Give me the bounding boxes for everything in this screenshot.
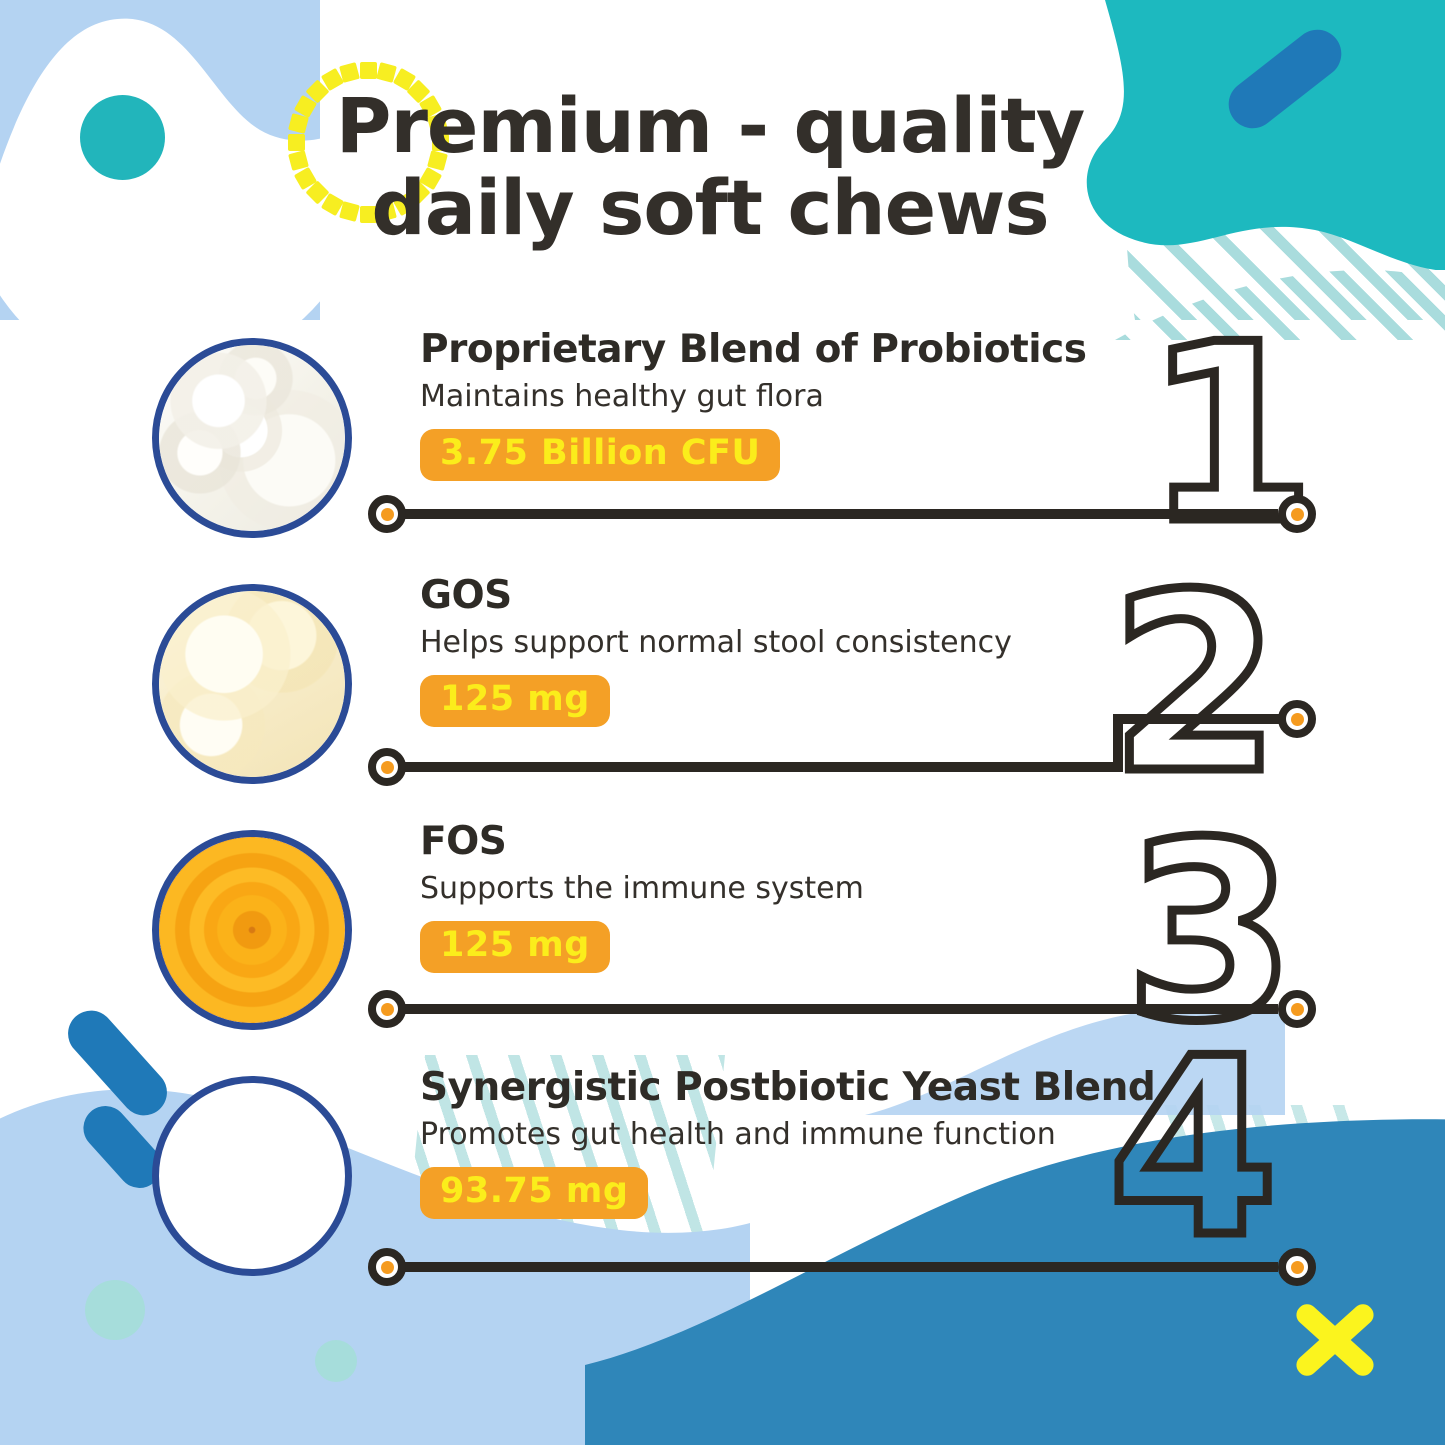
connector-marker-right-4	[1278, 1248, 1316, 1286]
gos-cream-thumbnail	[152, 584, 352, 784]
product-infographic-poster: Premium - quality daily soft chews Propr…	[0, 0, 1445, 1445]
connector-marker-right-1	[1278, 495, 1316, 533]
yeast-granules-thumbnail	[152, 1076, 352, 1276]
ingredient-text-1: Proprietary Blend of Probiotics Maintain…	[420, 330, 1120, 481]
top-right-diagonal-stripes	[1125, 20, 1445, 320]
blue-capsule-decor	[1219, 20, 1351, 138]
connector-marker-left-3	[368, 990, 406, 1028]
connector-line-1	[373, 509, 1278, 519]
connector-marker-right-2	[1278, 700, 1316, 738]
ingredient-amount-badge: 3.75 Billion CFU	[420, 429, 780, 481]
ingredient-amount-badge: 93.75 mg	[420, 1167, 648, 1219]
connector-line-2	[373, 762, 1123, 772]
step-number-2: 2	[1110, 562, 1274, 807]
ingredient-name: Synergistic Postbiotic Yeast Blend	[420, 1068, 1120, 1109]
connector-marker-right-3	[1278, 990, 1316, 1028]
ingredient-benefit: Helps support normal stool consistency	[420, 626, 1120, 659]
page-title: Premium - quality daily soft chews	[300, 85, 1120, 249]
ingredient-name: Proprietary Blend of Probiotics	[420, 330, 1120, 371]
ingredient-benefit: Promotes gut health and immune function	[420, 1118, 1120, 1151]
ingredient-amount-badge: 125 mg	[420, 675, 610, 727]
probiotic-yogurt-thumbnail	[152, 338, 352, 538]
page-title-line-2: daily soft chews	[300, 167, 1120, 249]
connector-marker-left-2	[368, 748, 406, 786]
ingredient-row-2: GOS Helps support normal stool consisten…	[0, 576, 1445, 821]
ingredient-benefit: Supports the immune system	[420, 872, 1120, 905]
page-title-line-1: Premium - quality	[336, 81, 1085, 170]
ingredient-text-4: Synergistic Postbiotic Yeast Blend Promo…	[420, 1068, 1120, 1219]
connector-marker-left-4	[368, 1248, 406, 1286]
fos-chicory-root-thumbnail	[152, 830, 352, 1030]
connector-marker-left-1	[368, 495, 406, 533]
ingredient-benefit: Maintains healthy gut flora	[420, 380, 1120, 413]
step-number-4: 4	[1108, 1026, 1272, 1271]
connector-line-4	[373, 1262, 1278, 1272]
ingredient-amount-badge: 125 mg	[420, 921, 610, 973]
ingredient-text-3: FOS Supports the immune system 125 mg	[420, 822, 1120, 973]
ingredient-name: FOS	[420, 822, 1120, 863]
connector-step-upper-2	[1113, 714, 1288, 724]
teal-circle-decor	[80, 95, 165, 180]
ingredient-row-4: Synergistic Postbiotic Yeast Blend Promo…	[0, 1068, 1445, 1313]
ingredient-row-1: Proprietary Blend of Probiotics Maintain…	[0, 330, 1445, 575]
ingredient-text-2: GOS Helps support normal stool consisten…	[420, 576, 1120, 727]
pale-teal-dot-2	[315, 1340, 357, 1382]
ingredient-name: GOS	[420, 576, 1120, 617]
top-left-blue-panel	[0, 0, 320, 320]
